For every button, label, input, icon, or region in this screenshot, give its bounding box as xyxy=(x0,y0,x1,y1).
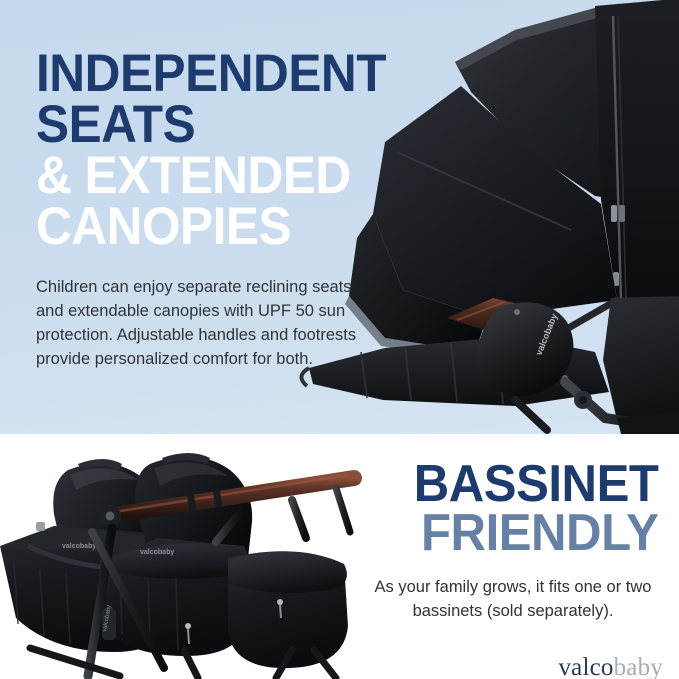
bottom-headline-line-1: BASSINET xyxy=(360,460,659,509)
stroller-seat-back xyxy=(603,296,679,420)
bassinet-right-latch xyxy=(277,599,283,605)
headline-line-2: SEATS xyxy=(36,99,429,150)
bottom-panel-body-text: As your family grows, it fits one or two… xyxy=(351,576,671,624)
headline-line-1: INDEPENDENT xyxy=(36,48,429,99)
frame-strut-c xyxy=(336,488,350,532)
canopy-zipper-pull-a xyxy=(611,205,617,222)
frame-lower-rail xyxy=(30,648,120,676)
top-feature-panel: valcobaby INDEPENDENT SEATS & EXTENDED C… xyxy=(0,0,679,434)
frame-strut-front xyxy=(515,400,547,430)
bassinet-right-latch-strap xyxy=(280,605,281,618)
bottom-feature-panel: valcobaby valcobaby xyxy=(0,434,679,679)
frame-pivot-center xyxy=(579,396,587,404)
bassinet-front-brand-label: valcobaby xyxy=(140,549,174,556)
bassinet-front-latch xyxy=(185,623,191,629)
bottom-headline-line-2: FRIENDLY xyxy=(360,509,659,558)
top-panel-text-column: INDEPENDENT SEATS & EXTENDED CANOPIES Ch… xyxy=(36,48,456,371)
handlebar-pivot-center xyxy=(106,512,115,521)
top-panel-headline: INDEPENDENT SEATS & EXTENDED CANOPIES xyxy=(36,48,429,253)
bassinet-rear-brand-label: valcobaby xyxy=(62,543,96,550)
brand-logo: valcobaby xyxy=(351,655,671,679)
bassinet-front-latch-strap xyxy=(188,629,189,644)
top-panel-body-text: Children can enjoy separate reclining se… xyxy=(36,275,366,371)
canopy-zipper-pull-b xyxy=(619,205,625,222)
bottom-panel-headline: BASSINET FRIENDLY xyxy=(360,460,662,559)
bottom-panel-text-column: BASSINET FRIENDLY As your family grows, … xyxy=(351,460,671,679)
hub-rivet-1 xyxy=(514,309,520,315)
frame-strut-b xyxy=(292,500,306,538)
double-bassinet-illustration: valcobaby valcobaby xyxy=(0,436,372,679)
bassinet-rear-badge xyxy=(36,522,45,531)
footrest-strap-loop xyxy=(301,368,309,386)
product-feature-poster: valcobaby INDEPENDENT SEATS & EXTENDED C… xyxy=(0,0,679,679)
double-bassinet-image: valcobaby valcobaby xyxy=(0,436,372,679)
brand-logo-baby: baby xyxy=(614,654,663,679)
brand-logo-valco: valco xyxy=(558,654,613,679)
headline-line-3: & EXTENDED xyxy=(36,150,429,201)
headline-line-4: CANOPIES xyxy=(36,201,429,252)
